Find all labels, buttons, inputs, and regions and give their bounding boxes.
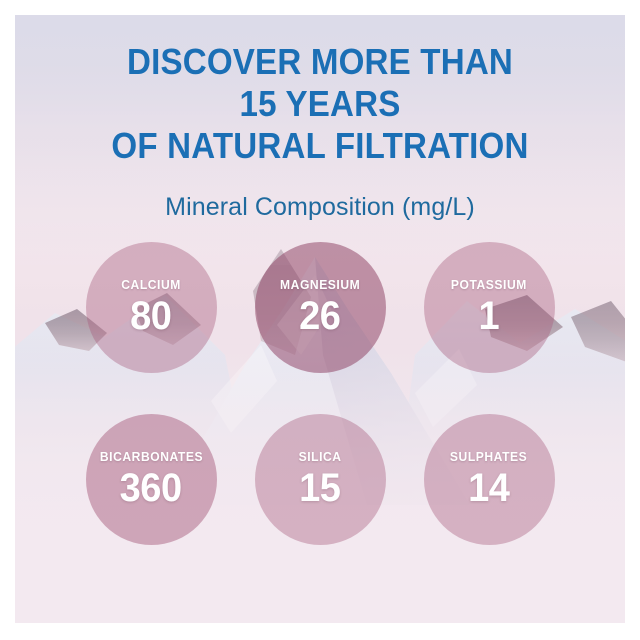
mineral-label: SULPHATES <box>450 450 527 464</box>
headline-line-1: DISCOVER MORE THAN <box>39 41 600 83</box>
mineral-composition-grid: CALCIUM 80 MAGNESIUM 26 POTASSIUM 1 BICA… <box>15 242 625 572</box>
subtitle: Mineral Composition (mg/L) <box>15 193 625 222</box>
page-title: DISCOVER MORE THAN 15 YEARS OF NATURAL F… <box>39 41 600 167</box>
mineral-bubble-sulphates: SULPHATES 14 <box>424 414 555 545</box>
mineral-row-bottom: BICARBONATES 360 SILICA 15 SULPHATES 14 <box>15 414 625 545</box>
poster-canvas: DISCOVER MORE THAN 15 YEARS OF NATURAL F… <box>15 15 625 623</box>
mineral-bubble-potassium: POTASSIUM 1 <box>424 242 555 373</box>
mineral-value: 1 <box>479 294 500 338</box>
mineral-label: MAGNESIUM <box>280 278 360 292</box>
mineral-value: 360 <box>120 466 182 510</box>
mineral-label: POTASSIUM <box>451 278 527 292</box>
mineral-bubble-calcium: CALCIUM 80 <box>86 242 217 373</box>
mineral-value: 14 <box>468 466 509 510</box>
headline-line-3: OF NATURAL FILTRATION <box>39 125 600 167</box>
mineral-label: CALCIUM <box>121 278 181 292</box>
mineral-bubble-silica: SILICA 15 <box>255 414 386 545</box>
mineral-row-top: CALCIUM 80 MAGNESIUM 26 POTASSIUM 1 <box>15 242 625 373</box>
mineral-bubble-magnesium: MAGNESIUM 26 <box>255 242 386 373</box>
mineral-value: 80 <box>130 294 171 338</box>
mineral-value: 26 <box>299 294 340 338</box>
mineral-bubble-bicarbonates: BICARBONATES 360 <box>86 414 217 545</box>
mineral-label: BICARBONATES <box>99 450 202 464</box>
headline-line-2: 15 YEARS <box>39 83 600 125</box>
mineral-label: SILICA <box>299 450 342 464</box>
mineral-value: 15 <box>299 466 340 510</box>
